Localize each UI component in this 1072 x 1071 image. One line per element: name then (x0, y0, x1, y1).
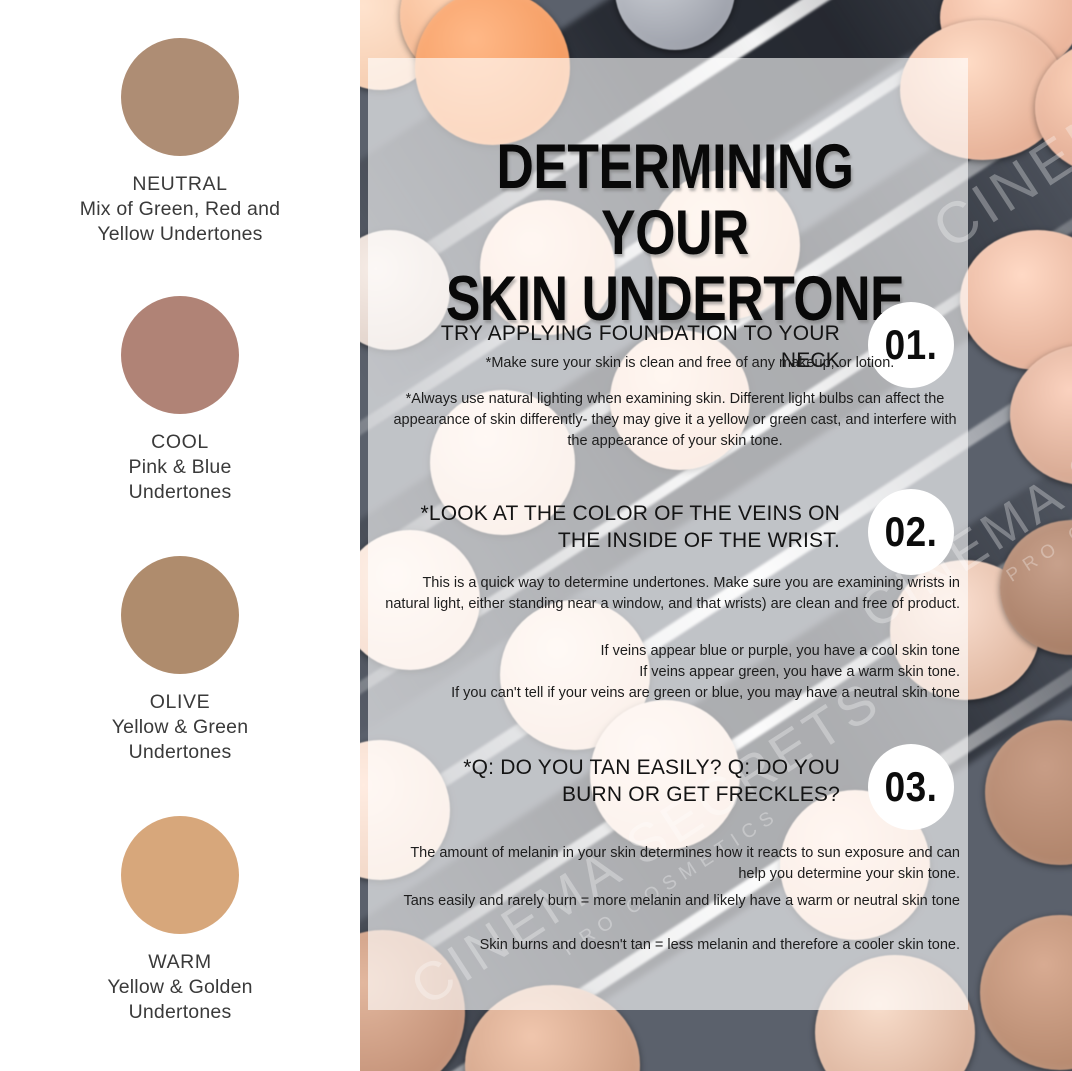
step-01-badge: 01. (868, 302, 954, 388)
step-03-badge-number: 03. (885, 763, 938, 811)
content-layer: DETERMINING YOUR SKIN UNDERTONE TRY APPL… (360, 0, 1072, 1071)
swatch-desc-line1: Yellow & Golden (0, 975, 360, 1000)
swatch-desc-line1: Pink & Blue (0, 455, 360, 480)
page-title-line1: DETERMINING YOUR (496, 132, 853, 268)
step-03-heading: *Q: DO YOU TAN EASILY? Q: DO YOU BURN OR… (410, 754, 840, 808)
swatch-label-cool: COOL Pink & Blue Undertones (0, 430, 360, 505)
infographic-page: NEUTRAL Mix of Green, Red and Yellow Und… (0, 0, 1072, 1071)
step-02-paragraph-2: If veins appear blue or purple, you have… (385, 641, 960, 704)
color-circle-icon (121, 296, 239, 414)
step-02-heading: *LOOK AT THE COLOR OF THE VEINS ON THE I… (410, 500, 840, 554)
step-03-heading-line2: BURN OR GET FRECKLES? (410, 781, 840, 808)
step-02-badge: 02. (868, 489, 954, 575)
page-title: DETERMINING YOUR SKIN UNDERTONE (441, 134, 908, 332)
step-03-paragraph-1: The amount of melanin in your skin deter… (385, 843, 960, 885)
step-03-badge: 03. (868, 744, 954, 830)
swatch-item-neutral: NEUTRAL Mix of Green, Red and Yellow Und… (0, 38, 360, 247)
swatch-item-cool: COOL Pink & Blue Undertones (0, 296, 360, 505)
swatch-name: OLIVE (0, 690, 360, 715)
step-03-paragraph-3: Skin burns and doesn't tan = less melani… (385, 935, 960, 956)
swatch-name: COOL (0, 430, 360, 455)
color-circle-icon (121, 38, 239, 156)
swatch-label-olive: OLIVE Yellow & Green Undertones (0, 690, 360, 765)
swatch-desc-line1: Yellow & Green (0, 715, 360, 740)
swatch-item-olive: OLIVE Yellow & Green Undertones (0, 556, 360, 765)
step-02-paragraph-1: This is a quick way to determine underto… (385, 573, 960, 615)
color-circle-icon (121, 556, 239, 674)
swatch-desc-line2: Undertones (0, 740, 360, 765)
swatch-item-warm: WARM Yellow & Golden Undertones (0, 816, 360, 1025)
step-03-paragraph-2: Tans easily and rarely burn = more melan… (385, 891, 960, 912)
swatch-label-warm: WARM Yellow & Golden Undertones (0, 950, 360, 1025)
step-02-heading-line2: THE INSIDE OF THE WRIST. (410, 527, 840, 554)
step-02-badge-number: 02. (885, 508, 938, 556)
step-01-paragraph-2: *Always use natural lighting when examin… (390, 389, 960, 452)
swatch-name: NEUTRAL (0, 172, 360, 197)
swatch-desc-line2: Yellow Undertones (0, 222, 360, 247)
step-03-heading-line1: *Q: DO YOU TAN EASILY? Q: DO YOU (410, 754, 840, 781)
swatch-desc-line2: Undertones (0, 480, 360, 505)
swatch-desc-line2: Undertones (0, 1000, 360, 1025)
swatch-name: WARM (0, 950, 360, 975)
undertone-swatch-column: NEUTRAL Mix of Green, Red and Yellow Und… (0, 0, 360, 1071)
color-circle-icon (121, 816, 239, 934)
swatch-label-neutral: NEUTRAL Mix of Green, Red and Yellow Und… (0, 172, 360, 247)
step-01-paragraph-1: *Make sure your skin is clean and free o… (420, 353, 960, 374)
step-02-heading-line1: *LOOK AT THE COLOR OF THE VEINS ON (410, 500, 840, 527)
swatch-desc-line1: Mix of Green, Red and (0, 197, 360, 222)
